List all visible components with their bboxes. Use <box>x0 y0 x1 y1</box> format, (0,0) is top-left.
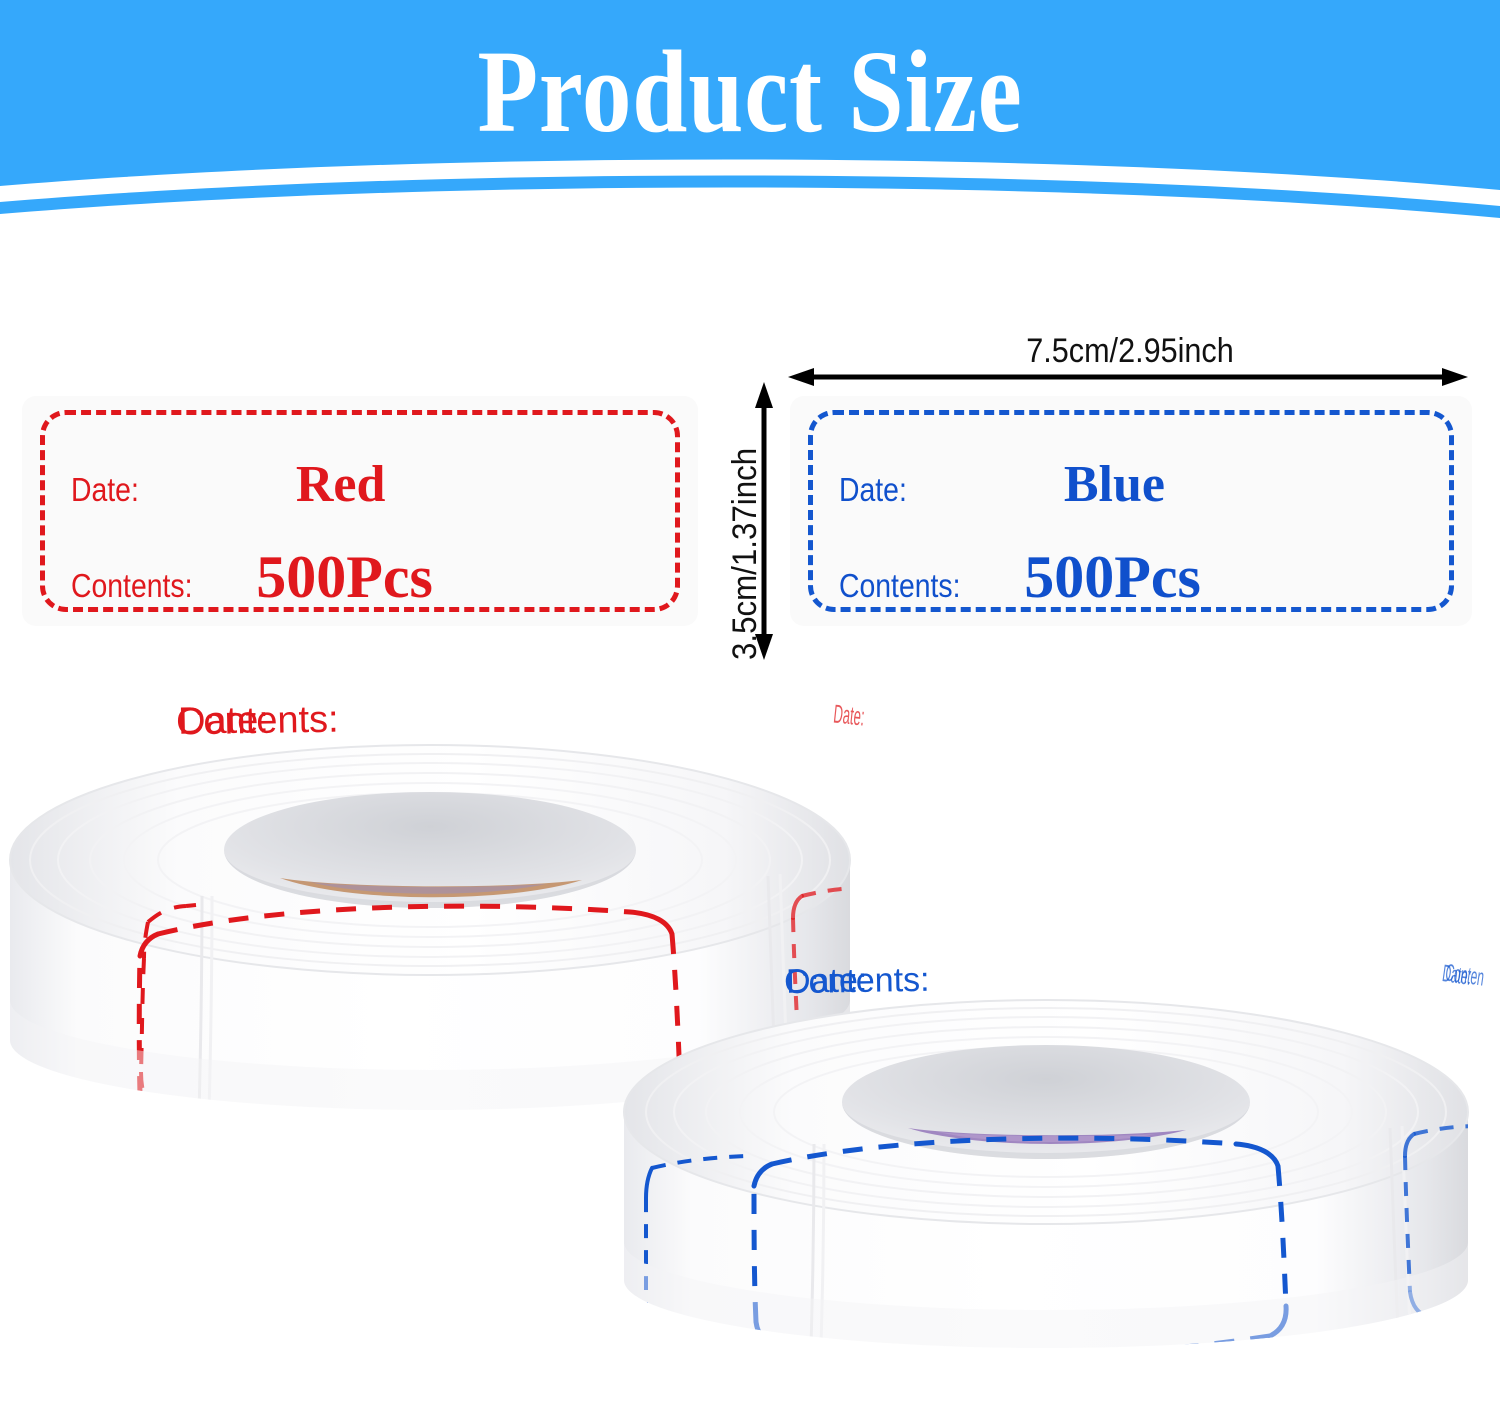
spec-key-date-blue: Date: <box>839 471 907 509</box>
spec-row-contents-blue: Contents: 500Pcs <box>839 543 1433 612</box>
spec-row-contents-red: Contents: 500Pcs <box>71 543 659 612</box>
spec-card-blue-dashed-border: Date: Blue Contents: 500Pcs <box>808 410 1454 612</box>
spec-card-red-dashed-border: Date: Red Contents: 500Pcs <box>40 410 680 612</box>
spec-row-date-blue: Date: Blue <box>839 455 1433 514</box>
spec-card-red: Date: Red Contents: 500Pcs <box>22 396 698 626</box>
header-banner: Product Size <box>0 0 1500 220</box>
spec-key-date-red: Date: <box>71 471 139 509</box>
spec-value-variant-red: Red <box>296 455 386 514</box>
dimension-height-arrow-icon <box>752 382 776 660</box>
page-title: Product Size <box>120 26 1380 158</box>
spec-key-contents-blue: Contents: <box>839 567 960 605</box>
spec-value-count-red: 500Pcs <box>256 543 433 612</box>
spec-row-date-red: Date: Red <box>71 455 659 514</box>
blue-roll-illustration <box>608 962 1500 1407</box>
spec-key-contents-red: Contents: <box>71 567 192 605</box>
product-photo-blue-roll: Date: Contents: Date: Conten <box>608 962 1500 1407</box>
dimension-width-arrow-icon <box>788 366 1468 388</box>
spec-card-blue: Date: Blue Contents: 500Pcs <box>790 396 1472 626</box>
spec-value-count-blue: 500Pcs <box>1024 543 1201 612</box>
spec-value-variant-blue: Blue <box>1064 455 1165 514</box>
